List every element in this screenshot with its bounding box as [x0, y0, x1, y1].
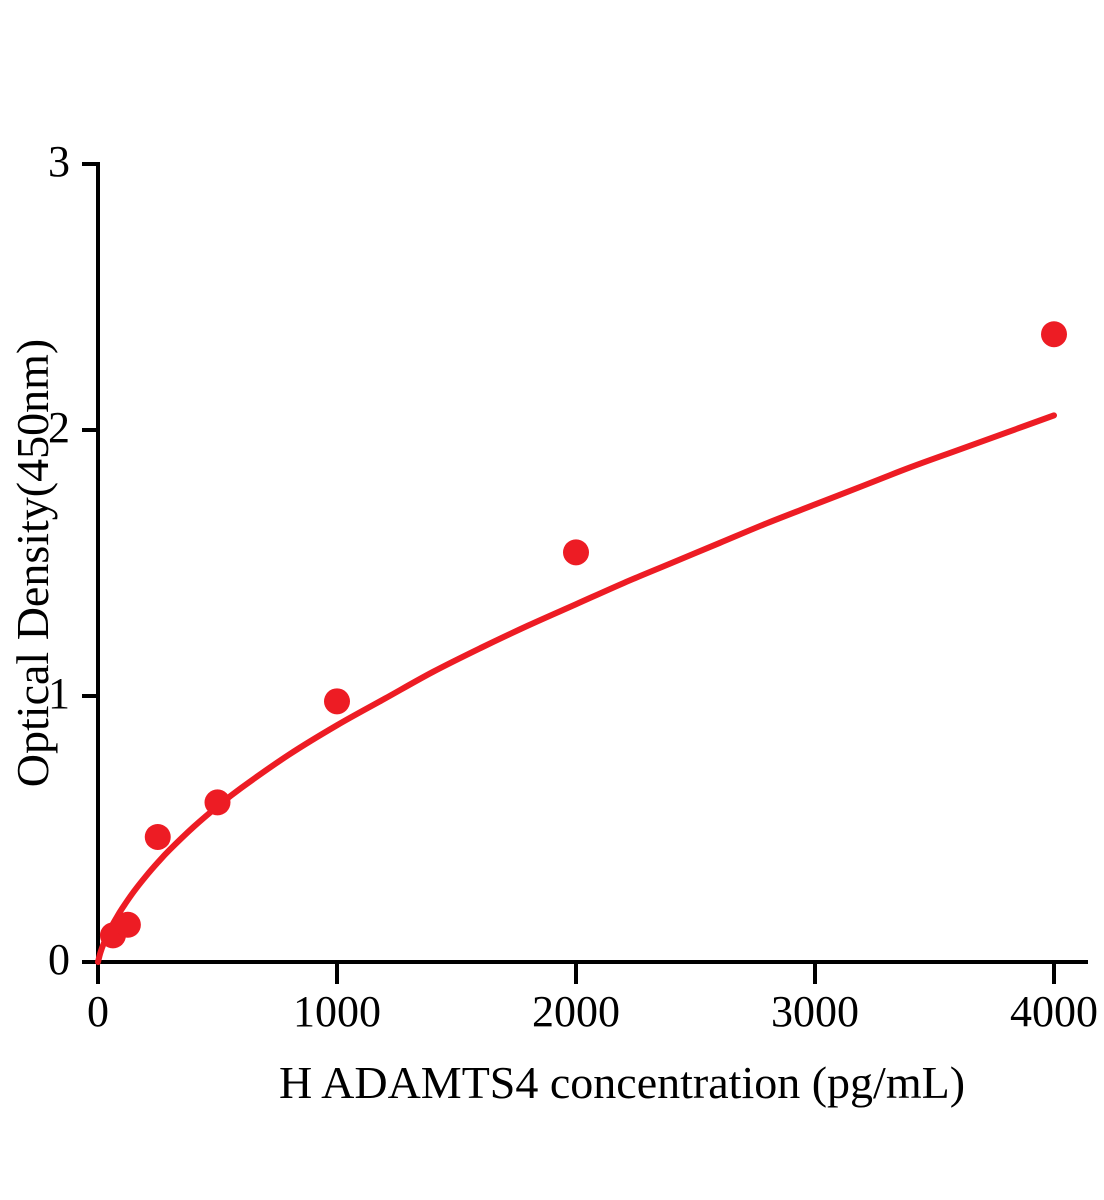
scatter-plot: 0123 01000200030004000 H ADAMTS4 concent…	[0, 0, 1104, 1200]
y-axis-title: Optical Density(450nm)	[7, 339, 58, 787]
y-tick-label: 3	[48, 137, 70, 186]
data-point-marker	[324, 688, 350, 714]
x-tick-label: 3000	[771, 987, 859, 1036]
x-tick-label: 2000	[532, 987, 620, 1036]
x-tick-label: 1000	[293, 987, 381, 1036]
x-tick-label: 0	[87, 987, 109, 1036]
x-tick-label: 4000	[1010, 987, 1098, 1036]
y-tick-label: 0	[48, 935, 70, 984]
data-points	[100, 321, 1067, 948]
x-axis-ticks: 01000200030004000	[87, 962, 1098, 1036]
data-point-marker	[145, 824, 171, 850]
chart-container: 0123 01000200030004000 H ADAMTS4 concent…	[0, 0, 1104, 1200]
x-axis-title: H ADAMTS4 concentration (pg/mL)	[279, 1057, 965, 1108]
data-point-marker	[205, 789, 231, 815]
data-point-marker	[1041, 321, 1067, 347]
standard-curve-fit-line	[98, 415, 1054, 962]
data-point-marker	[563, 539, 589, 565]
data-point-marker	[115, 912, 141, 938]
